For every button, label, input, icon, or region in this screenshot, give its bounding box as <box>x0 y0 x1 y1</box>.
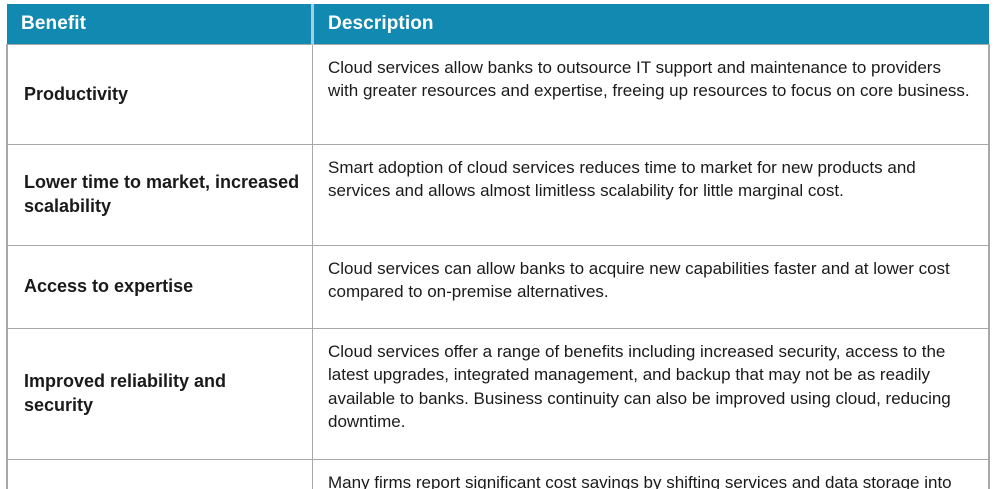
cell-description: Smart adoption of cloud services reduces… <box>313 145 990 246</box>
table-body: Productivity Cloud services allow banks … <box>7 45 989 489</box>
cell-description: Cloud services offer a range of benefits… <box>313 329 990 460</box>
cell-description: Cloud services can allow banks to acquir… <box>313 246 990 329</box>
cell-description: Many firms report significant cost savin… <box>313 460 990 489</box>
table-row: Cost savings Many firms report significa… <box>7 460 989 489</box>
cell-benefit: Cost savings <box>7 460 313 489</box>
table-row: Access to expertise Cloud services can a… <box>7 246 989 329</box>
cell-benefit: Access to expertise <box>7 246 313 329</box>
cell-description: Cloud services allow banks to outsource … <box>313 45 990 145</box>
table-row: Lower time to market, increased scalabil… <box>7 145 989 246</box>
cloud-benefits-table: Benefit Description Productivity Cloud s… <box>6 4 990 489</box>
cell-benefit: Lower time to market, increased scalabil… <box>7 145 313 246</box>
cell-benefit: Improved reliability and security <box>7 329 313 460</box>
page-root: Benefit Description Productivity Cloud s… <box>0 0 1002 489</box>
table-header: Benefit Description <box>7 4 989 45</box>
table-row: Improved reliability and security Cloud … <box>7 329 989 460</box>
table-header-row: Benefit Description <box>7 4 989 45</box>
column-header-benefit: Benefit <box>7 4 313 45</box>
cell-benefit: Productivity <box>7 45 313 145</box>
table-row: Productivity Cloud services allow banks … <box>7 45 989 145</box>
column-header-description: Description <box>313 4 990 45</box>
